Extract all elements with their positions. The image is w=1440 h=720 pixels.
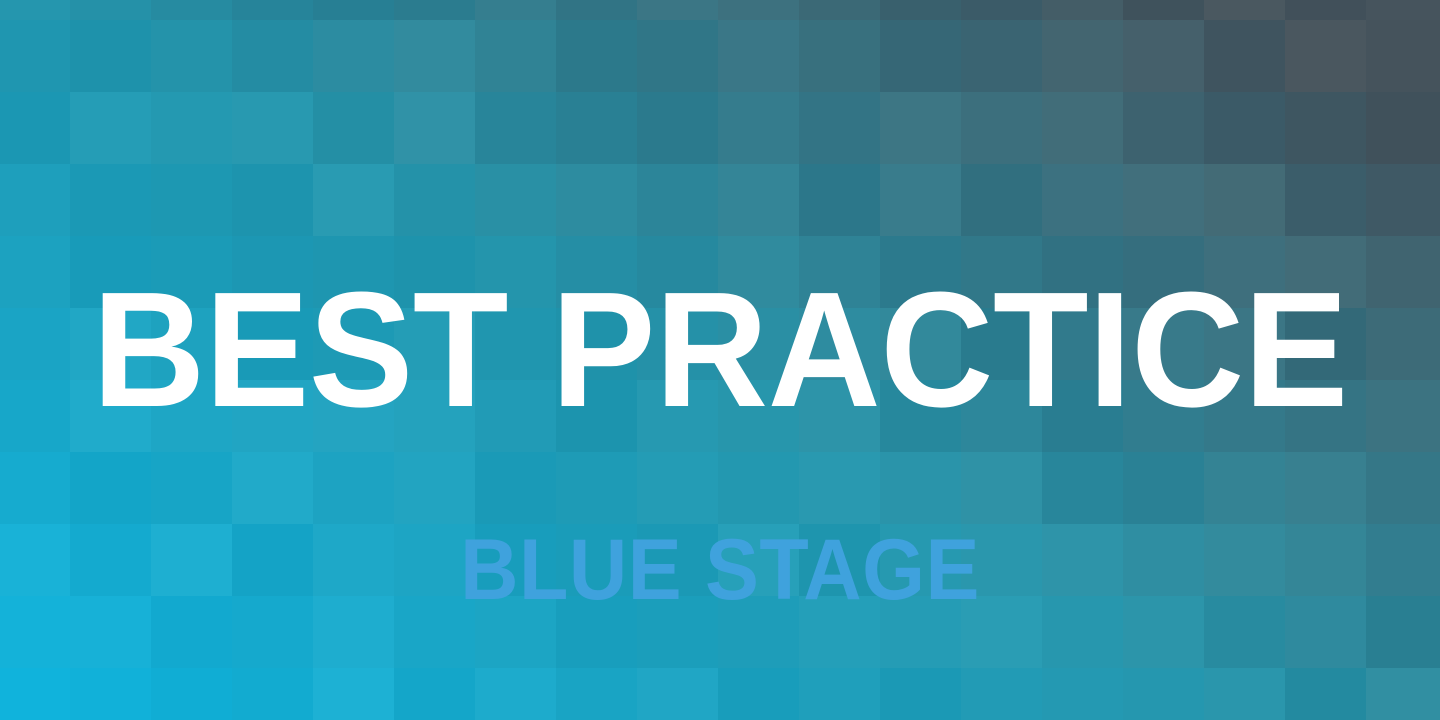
banner-title: BEST PRACTICE (32, 268, 1407, 432)
best-practice-banner: BEST PRACTICE BLUE STAGE (0, 0, 1440, 720)
banner-subtitle: BLUE STAGE (43, 527, 1397, 613)
banner-text-stack: BEST PRACTICE BLUE STAGE (0, 0, 1440, 720)
